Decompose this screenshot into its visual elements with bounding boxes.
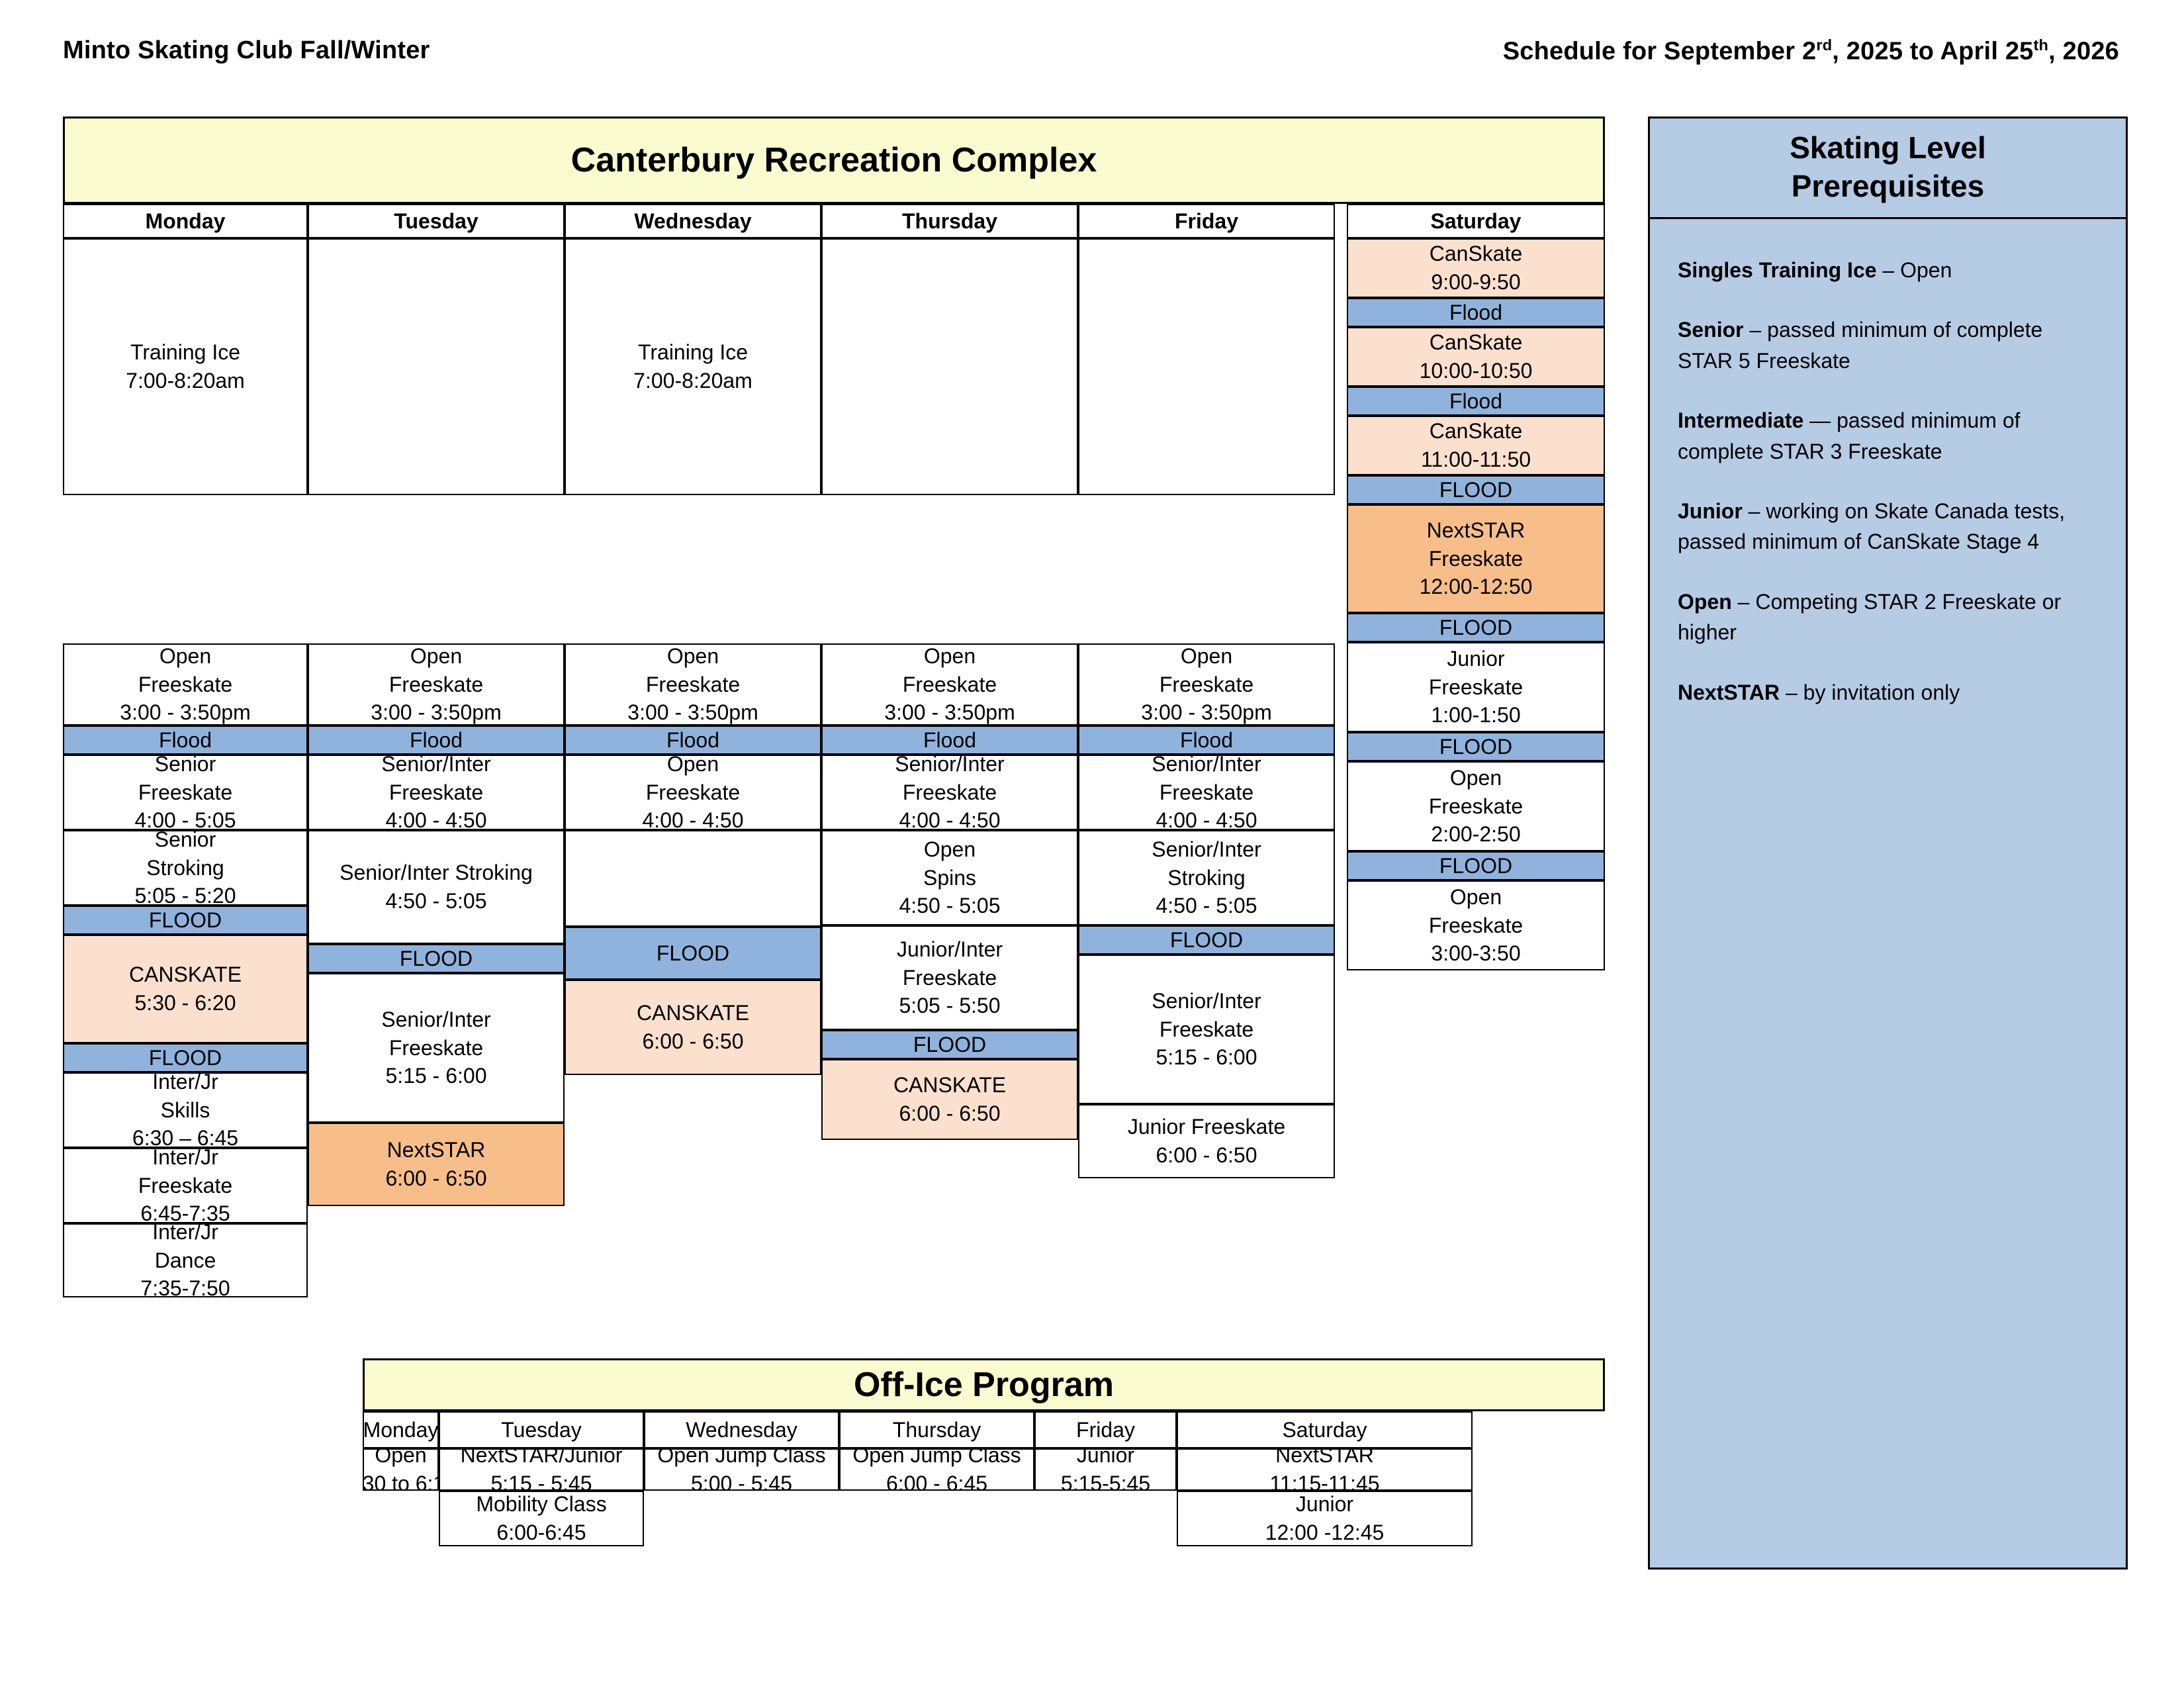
prerequisites-body: Singles Training Ice – OpenSenior – pass… — [1650, 219, 2126, 750]
cell-line: 5:15 - 6:00 — [386, 1062, 487, 1090]
cell-line: 5:00 - 5:45 — [691, 1470, 792, 1491]
cell-line: 5:30 - 6:20 — [135, 989, 236, 1017]
saturday-canskate-session-cell: CanSkate10:00-10:50 — [1347, 327, 1605, 387]
cell-line: Spins — [923, 864, 976, 892]
cell-line: Stroking — [146, 854, 224, 882]
cell-line: 3:00 - 3:50pm — [627, 698, 758, 726]
cell-line: FLOOD — [400, 945, 473, 973]
cell-line: Dance — [155, 1246, 216, 1275]
cell-line: Senior/Inter — [381, 755, 490, 778]
cell-line: Freeskate — [903, 964, 997, 992]
cell-line: FLOOD — [1170, 926, 1243, 955]
monday-session-cell: Inter/JrFreeskate6:45-7:35 — [63, 1148, 308, 1223]
tuesday-session-cell: Senior/Inter Stroking4:50 - 5:05 — [308, 830, 565, 944]
cell-line: 4:00 - 5:05 — [135, 806, 236, 830]
saturday-flood-cell: FLOOD — [1347, 732, 1605, 761]
cell-line: Senior/Inter — [1152, 987, 1261, 1015]
cell-line: 6:45-7:35 — [140, 1199, 230, 1223]
friday-flood-cell: Flood — [1078, 726, 1335, 755]
cell-line: Flood — [159, 726, 212, 755]
cell-line: Freeskate — [389, 1034, 483, 1062]
cell-line: 4:00 - 4:50 — [386, 806, 487, 830]
cell-line: Freeskate — [1160, 671, 1253, 699]
saturday-flood-cell: FLOOD — [1347, 613, 1605, 642]
cell-line: 3:00 - 3:50pm — [1141, 698, 1271, 726]
cell-line: Open — [667, 643, 719, 671]
friday-column: OpenFreeskate3:00 - 3:50pmFloodSenior/In… — [1078, 643, 1335, 1178]
cell-line: Freeskate — [138, 778, 232, 807]
prerequisites-title-line1: Skating Level — [1657, 129, 2119, 167]
thursday-session-cell: Junior/InterFreeskate5:05 - 5:50 — [821, 925, 1078, 1030]
offdice-title-bar: Off-Ice Program — [363, 1358, 1605, 1411]
cell-line: Open — [1450, 764, 1502, 792]
cell-line: FLOOD — [657, 939, 729, 968]
page-title-right: Schedule for September 2rd, 2025 to Apri… — [1503, 36, 2119, 66]
cell-line: 6:00 - 6:50 — [899, 1100, 1001, 1128]
offdce-day-header-wednesday: Wednesday — [644, 1411, 839, 1448]
ordinal-suffix-2: th — [2034, 36, 2049, 54]
cell-line: Freeskate — [646, 778, 740, 807]
cell-line: 3:00 - 3:50pm — [120, 698, 250, 726]
cell-line: Open Jump Class — [657, 1448, 825, 1470]
cell-line: CanSkate — [1430, 328, 1523, 357]
cell-line: 6:00 - 6:50 — [386, 1164, 487, 1193]
cell-line: Junior/Inter — [897, 935, 1003, 964]
cell-line: Freeskate — [389, 778, 483, 807]
tuesday-nextstar-session-cell: NextSTAR6:00 - 6:50 — [308, 1123, 565, 1206]
monday-canskate-session-cell: CANSKATE5:30 - 6:20 — [63, 935, 308, 1043]
cell-line: 10:00-10:50 — [1420, 357, 1533, 385]
cell-line: 4:50 - 5:05 — [899, 892, 1001, 920]
morning-cell-thursday — [821, 238, 1078, 495]
prerequisite-item: Senior – passed minimum of complete STAR… — [1678, 314, 2099, 376]
off-ice-session-cell: Open Jump Class5:00 - 5:45 — [644, 1448, 839, 1491]
wednesday-session-cell: OpenFreeskate4:00 - 4:50 — [565, 755, 821, 830]
friday-flood-cell: FLOOD — [1078, 925, 1335, 955]
prerequisite-term: Senior — [1678, 318, 1744, 342]
wednesday-canskate-session-cell: CANSKATE6:00 - 6:50 — [565, 980, 821, 1075]
cell-line: Open — [410, 643, 462, 671]
saturday-canskate-session-cell: CanSkate11:00-11:50 — [1347, 416, 1605, 475]
cell-line: 7:00-8:20am — [126, 367, 245, 395]
tuesday-session-cell: Senior/InterFreeskate5:15 - 6:00 — [308, 973, 565, 1123]
prerequisite-description: – Competing STAR 2 Freeskate or higher — [1678, 590, 2061, 644]
offdce-day-header-thursday: Thursday — [839, 1411, 1034, 1448]
cell-line: CanSkate — [1430, 240, 1523, 268]
cell-line: Senior/Inter Stroking — [340, 859, 533, 887]
cell-line: Flood — [666, 726, 719, 755]
cell-line: 3:00 - 3:50pm — [371, 698, 501, 726]
cell-line: FLOOD — [913, 1031, 986, 1059]
monday-session-cell: SeniorFreeskate4:00 - 5:05 — [63, 755, 308, 830]
cell-line: Freeskate — [903, 778, 997, 807]
monday-session-cell: SeniorStroking5:05 - 5:20 — [63, 830, 308, 906]
ordinal-suffix-1: rd — [1816, 36, 1832, 54]
cell-line: Senior/Inter — [381, 1006, 490, 1034]
prerequisite-term: Open — [1678, 590, 1732, 614]
cell-line: 6:00 - 6:45 — [886, 1470, 987, 1491]
prerequisite-item: Singles Training Ice – Open — [1678, 255, 2099, 285]
cell-line: 11:00-11:50 — [1421, 445, 1531, 474]
day-header-saturday: Saturday — [1347, 204, 1605, 238]
cell-line: 5:05 - 5:50 — [899, 992, 1001, 1020]
thursday-column: OpenFreeskate3:00 - 3:50pmFloodSenior/In… — [821, 643, 1078, 1140]
cell-line: Training Ice — [130, 338, 240, 367]
monday-flood-cell: Flood — [63, 726, 308, 755]
cell-line: CanSkate — [1430, 417, 1523, 445]
cell-line: 9:00-9:50 — [1431, 268, 1520, 297]
thursday-flood-cell: FLOOD — [821, 1030, 1078, 1059]
prerequisite-description: – by invitation only — [1780, 680, 1960, 704]
cell-line: Freeskate — [138, 671, 232, 699]
cell-line: Senior/Inter — [1152, 835, 1261, 864]
cell-line: Junior Freeskate — [1128, 1113, 1285, 1141]
off-ice-table: MondayTuesdayWednesdayThursdayFridaySatu… — [363, 1411, 1605, 1546]
cell-line: 6:00 - 6:50 — [1156, 1141, 1257, 1170]
cell-line: 5:05 - 5:20 — [135, 882, 236, 906]
cell-line: 3:00 - 3:50pm — [884, 698, 1015, 726]
day-header-thursday: Thursday — [821, 204, 1078, 238]
cell-line: Freeskate — [1160, 778, 1253, 807]
monday-flood-cell: FLOOD — [63, 906, 308, 935]
prerequisites-panel: Skating Level Prerequisites Singles Trai… — [1648, 117, 2128, 1570]
prerequisite-term: NextSTAR — [1678, 680, 1780, 704]
saturday-flood-cell: Flood — [1347, 387, 1605, 416]
saturday-session-cell: OpenFreeskate2:00-2:50 — [1347, 761, 1605, 851]
cell-line: Inter/Jr — [152, 1148, 218, 1172]
cell-line: 4:00 - 4:50 — [643, 806, 744, 830]
prerequisite-description: – Open — [1877, 258, 1952, 282]
monday-flood-cell: FLOOD — [63, 1043, 308, 1072]
friday-session-cell: Senior/InterStroking4:50 - 5:05 — [1078, 830, 1335, 925]
cell-line: 6:30 – 6:45 — [132, 1124, 238, 1148]
cell-line: Mobility Class — [476, 1491, 606, 1519]
cell-line: FLOOD — [1439, 852, 1512, 880]
cell-line: Freeskate — [389, 671, 483, 699]
friday-session-cell: Junior Freeskate6:00 - 6:50 — [1078, 1104, 1335, 1178]
thursday-session-cell: OpenFreeskate3:00 - 3:50pm — [821, 643, 1078, 726]
cell-line: 4:50 - 5:05 — [386, 887, 487, 915]
day-header-wednesday: Wednesday — [565, 204, 821, 238]
prerequisite-item: Open – Competing STAR 2 Freeskate or hig… — [1678, 586, 2099, 648]
saturday-canskate-session-cell: CanSkate9:00-9:50 — [1347, 238, 1605, 298]
cell-line: 11:15-11:45 — [1269, 1470, 1379, 1491]
cell-line: Inter/Jr — [152, 1223, 218, 1246]
prerequisite-term: Singles Training Ice — [1678, 258, 1877, 282]
cell-line: Stroking — [1167, 864, 1245, 892]
offdce-day-header-friday: Friday — [1034, 1411, 1177, 1448]
cell-line: Open — [159, 643, 211, 671]
off-ice-session-cell: Open5:30 to 6:15 — [363, 1448, 439, 1491]
day-header-friday: Friday — [1078, 204, 1335, 238]
cell-line: 6:00 - 6:50 — [643, 1027, 744, 1056]
cell-line: Open — [375, 1448, 426, 1470]
cell-line: Open — [1450, 883, 1502, 912]
saturday-session-cell: JuniorFreeskate1:00-1:50 — [1347, 642, 1605, 732]
cell-line: Skills — [161, 1096, 210, 1125]
tuesday-column: OpenFreeskate3:00 - 3:50pmFloodSenior/In… — [308, 643, 565, 1206]
morning-cell-tuesday — [308, 238, 565, 495]
cell-line: Training Ice — [638, 338, 748, 367]
saturday-flood-cell: Flood — [1347, 298, 1605, 327]
cell-line: FLOOD — [149, 906, 222, 935]
tuesday-flood-cell: FLOOD — [308, 944, 565, 973]
cell-line: CANSKATE — [129, 961, 242, 989]
off-ice-session-cell: Mobility Class6:00-6:45 — [439, 1491, 644, 1546]
cell-line: 4:50 - 5:05 — [1156, 892, 1257, 920]
schedule-range-end: , 2026 — [2048, 38, 2119, 66]
cell-line: 7:00-8:20am — [633, 367, 752, 395]
cell-line: Flood — [923, 726, 976, 755]
wednesday-flood-cell: Flood — [565, 726, 821, 755]
saturday-column: CanSkate9:00-9:50FloodCanSkate10:00-10:5… — [1347, 238, 1605, 970]
cell-line: 5:15 - 5:45 — [491, 1470, 592, 1491]
offdce-day-header-saturday: Saturday — [1177, 1411, 1473, 1448]
cell-line: Senior/Inter — [895, 755, 1004, 778]
offdce-day-header-monday: Monday — [363, 1411, 439, 1448]
cell-line: Junior — [1447, 645, 1504, 673]
cell-line: Inter/Jr — [152, 1072, 218, 1096]
cell-line: Open Jump Class — [852, 1448, 1021, 1470]
off-ice-session-cell: Junior12:00 -12:45 — [1177, 1491, 1473, 1546]
cell-line: Freeskate — [646, 671, 740, 699]
cell-line: 7:35-7:50 — [140, 1274, 230, 1297]
cell-line: Freeskate — [903, 671, 997, 699]
cell-line: Open — [924, 835, 976, 864]
arena-title-bar: Canterbury Recreation Complex — [63, 117, 1605, 204]
cell-line: 4:00 - 4:50 — [899, 806, 1001, 830]
cell-line: 12:00-12:50 — [1420, 573, 1533, 601]
cell-line: Freeskate — [1429, 792, 1523, 821]
thursday-session-cell: Senior/InterFreeskate4:00 - 4:50 — [821, 755, 1078, 830]
offdce-day-header-tuesday: Tuesday — [439, 1411, 644, 1448]
cell-line: Senior — [155, 830, 216, 854]
cell-line: FLOOD — [149, 1044, 222, 1072]
cell-line: Flood — [1449, 299, 1502, 327]
cell-line: Open — [667, 755, 719, 778]
friday-session-cell: Senior/InterFreeskate4:00 - 4:50 — [1078, 755, 1335, 830]
morning-cell-friday — [1078, 238, 1335, 495]
cell-line: 5:30 to 6:15 — [363, 1470, 439, 1491]
cell-line: Junior — [1296, 1491, 1353, 1519]
off-ice-session-cell: NextSTAR/Junior5:15 - 5:45 — [439, 1448, 644, 1491]
off-ice-session-cell: Junior5:15-5:45 — [1034, 1448, 1177, 1491]
cell-line: Junior — [1077, 1448, 1134, 1470]
prerequisite-item: Junior – working on Skate Canada tests, … — [1678, 496, 2099, 557]
cell-line: CANSKATE — [893, 1071, 1006, 1100]
saturday-flood-cell: FLOOD — [1347, 851, 1605, 880]
cell-line: CANSKATE — [637, 999, 749, 1027]
saturday-session-cell: OpenFreeskate3:00-3:50 — [1347, 880, 1605, 970]
cell-line: Senior/Inter — [1152, 755, 1261, 778]
friday-session-cell: OpenFreeskate3:00 - 3:50pm — [1078, 643, 1335, 726]
cell-line: 12:00 -12:45 — [1265, 1519, 1385, 1546]
off-ice-session-cell: NextSTAR11:15-11:45 — [1177, 1448, 1473, 1491]
day-header-tuesday: Tuesday — [308, 204, 565, 238]
morning-cell-wednesday: Training Ice7:00-8:20am — [565, 238, 821, 495]
schedule-range-prefix: Schedule for September 2 — [1503, 38, 1817, 66]
cell-line: Open — [1181, 643, 1232, 671]
cell-line: Freeskate — [138, 1172, 232, 1200]
cell-line: 3:00-3:50 — [1431, 939, 1520, 968]
prerequisite-item: NextSTAR – by invitation only — [1678, 677, 2099, 708]
tuesday-flood-cell: Flood — [308, 726, 565, 755]
cell-line: 1:00-1:50 — [1431, 701, 1520, 729]
cell-line: Flood — [410, 726, 463, 755]
wednesday-session-cell: OpenFreeskate3:00 - 3:50pm — [565, 643, 821, 726]
cell-line: 4:00 - 4:50 — [1156, 806, 1257, 830]
schedule-range-mid: , 2025 to April 25 — [1832, 38, 2033, 66]
saturday-flood-cell: FLOOD — [1347, 475, 1605, 504]
cell-line: NextSTAR — [1427, 516, 1525, 545]
prerequisite-term: Junior — [1678, 499, 1743, 523]
cell-line: Flood — [1180, 726, 1233, 755]
cell-line: Freeskate — [1429, 912, 1523, 940]
thursday-session-cell: OpenSpins4:50 - 5:05 — [821, 830, 1078, 925]
cell-line: NextSTAR — [387, 1136, 486, 1164]
page-title-left: Minto Skating Club Fall/Winter — [63, 36, 430, 65]
prerequisites-title-line2: Prerequisites — [1657, 167, 2119, 206]
cell-line: FLOOD — [1439, 614, 1512, 642]
prerequisites-title: Skating Level Prerequisites — [1650, 118, 2126, 219]
monday-session-cell: Inter/JrDance7:35-7:50 — [63, 1223, 308, 1297]
tuesday-session-cell: OpenFreeskate3:00 - 3:50pm — [308, 643, 565, 726]
wednesday-flood-cell: FLOOD — [565, 927, 821, 980]
wednesday-session-cell — [565, 830, 821, 927]
prerequisite-term: Intermediate — [1678, 408, 1803, 432]
friday-session-cell: Senior/InterFreeskate5:15 - 6:00 — [1078, 955, 1335, 1104]
wednesday-column: OpenFreeskate3:00 - 3:50pmFloodOpenFrees… — [565, 643, 821, 1075]
off-ice-session-cell: Open Jump Class6:00 - 6:45 — [839, 1448, 1034, 1491]
cell-line: 6:00-6:45 — [496, 1519, 586, 1546]
cell-line: 5:15 - 6:00 — [1156, 1043, 1257, 1072]
monday-session-cell: Inter/JrSkills6:30 – 6:45 — [63, 1072, 308, 1148]
cell-line: Freeskate — [1429, 673, 1523, 702]
monday-column: OpenFreeskate3:00 - 3:50pmFloodSeniorFre… — [63, 643, 308, 1297]
monday-session-cell: OpenFreeskate3:00 - 3:50pm — [63, 643, 308, 726]
thursday-flood-cell: Flood — [821, 726, 1078, 755]
saturday-nextstar-session-cell: NextSTARFreeskate12:00-12:50 — [1347, 504, 1605, 613]
prerequisite-item: Intermediate — passed minimum of complet… — [1678, 405, 2099, 467]
day-header-monday: Monday — [63, 204, 308, 238]
cell-line: Freeskate — [1160, 1015, 1253, 1044]
cell-line: NextSTAR — [1275, 1448, 1374, 1470]
cell-line: 2:00-2:50 — [1431, 820, 1520, 849]
cell-line: FLOOD — [1439, 476, 1512, 504]
cell-line: Senior — [155, 755, 216, 778]
cell-line: FLOOD — [1439, 733, 1512, 761]
cell-line: 5:15-5:45 — [1061, 1470, 1150, 1491]
cell-line: Open — [924, 643, 976, 671]
cell-line: NextSTAR/Junior — [461, 1448, 623, 1470]
cell-line: Flood — [1449, 387, 1502, 416]
tuesday-session-cell: Senior/InterFreeskate4:00 - 4:50 — [308, 755, 565, 830]
thursday-canskate-session-cell: CANSKATE6:00 - 6:50 — [821, 1059, 1078, 1140]
morning-cell-monday: Training Ice7:00-8:20am — [63, 238, 308, 495]
cell-line: Freeskate — [1429, 545, 1523, 573]
